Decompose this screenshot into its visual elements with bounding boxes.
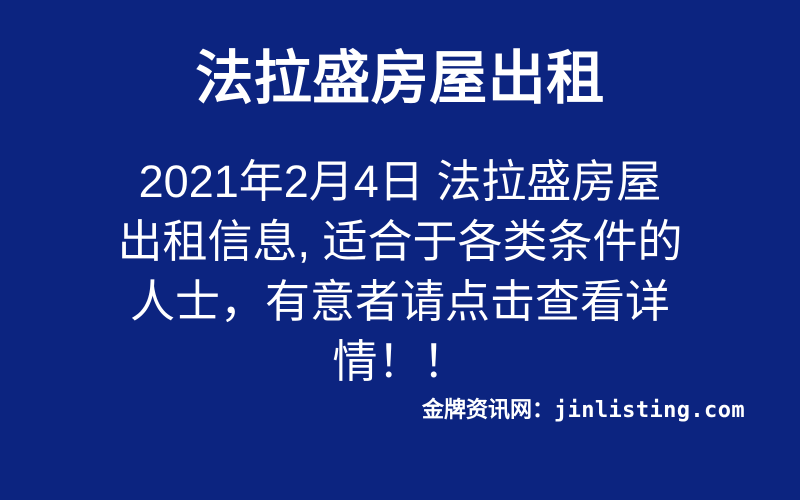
site-label: 金牌资讯网：	[422, 397, 554, 422]
title-block: 法拉盛房屋出租	[0, 48, 800, 111]
body-line-3: 人士，有意者请点击查看详	[40, 272, 760, 332]
body-text-block: 2021年2月4日 法拉盛房屋 出租信息, 适合于各类条件的 人士，有意者请点击…	[40, 152, 760, 392]
site-url: jinlisting.com	[554, 398, 745, 423]
footer-block: 金牌资讯网：jinlisting.com	[0, 396, 745, 425]
body-line-4: 情！！	[40, 332, 760, 392]
site-credit: 金牌资讯网：jinlisting.com	[422, 396, 745, 425]
body-line-1: 2021年2月4日 法拉盛房屋	[40, 152, 760, 212]
page-title: 法拉盛房屋出租	[0, 48, 800, 111]
body-line-2: 出租信息, 适合于各类条件的	[40, 212, 760, 272]
poster-canvas: 法拉盛房屋出租 2021年2月4日 法拉盛房屋 出租信息, 适合于各类条件的 人…	[0, 0, 800, 500]
